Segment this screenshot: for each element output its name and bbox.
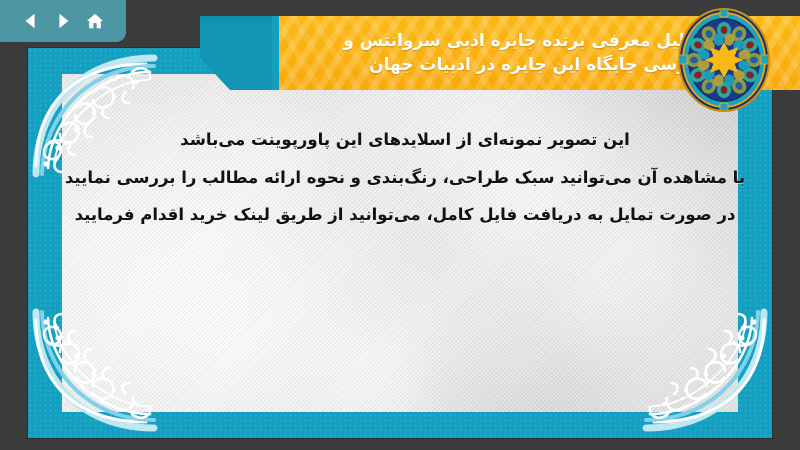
body-line-3: در صورت تمایل به دریافت فایل کامل، می‌تو… xyxy=(60,207,750,224)
slide-viewer: تحلیل معرفی برنده جایزه ادبی سروانتس و ب… xyxy=(0,0,800,450)
body-line-1: این تصویر نمونه‌ای از اسلایدهای این پاور… xyxy=(60,132,750,149)
slide-frame xyxy=(28,48,772,438)
home-icon xyxy=(86,11,104,31)
next-slide-button[interactable] xyxy=(54,11,72,31)
prev-slide-button[interactable] xyxy=(22,11,40,31)
slide-content-panel xyxy=(62,74,738,412)
persian-medallion-ornament xyxy=(676,6,772,114)
body-line-2: با مشاهده آن می‌توانید سبک طراحی، رنگ‌بن… xyxy=(60,170,750,187)
slide-title-line-1: تحلیل معرفی برنده جایزه ادبی سروانتس و xyxy=(343,29,704,53)
home-button[interactable] xyxy=(86,11,104,31)
navigation-bar xyxy=(0,0,126,42)
next-triangle-icon xyxy=(54,11,72,31)
slide-body-text: این تصویر نمونه‌ای از اسلایدهای این پاور… xyxy=(60,132,750,224)
prev-triangle-icon xyxy=(22,11,40,31)
slide-title-line-2: بررسی جایگاه این جایزه در ادبیات جهان xyxy=(369,53,704,77)
